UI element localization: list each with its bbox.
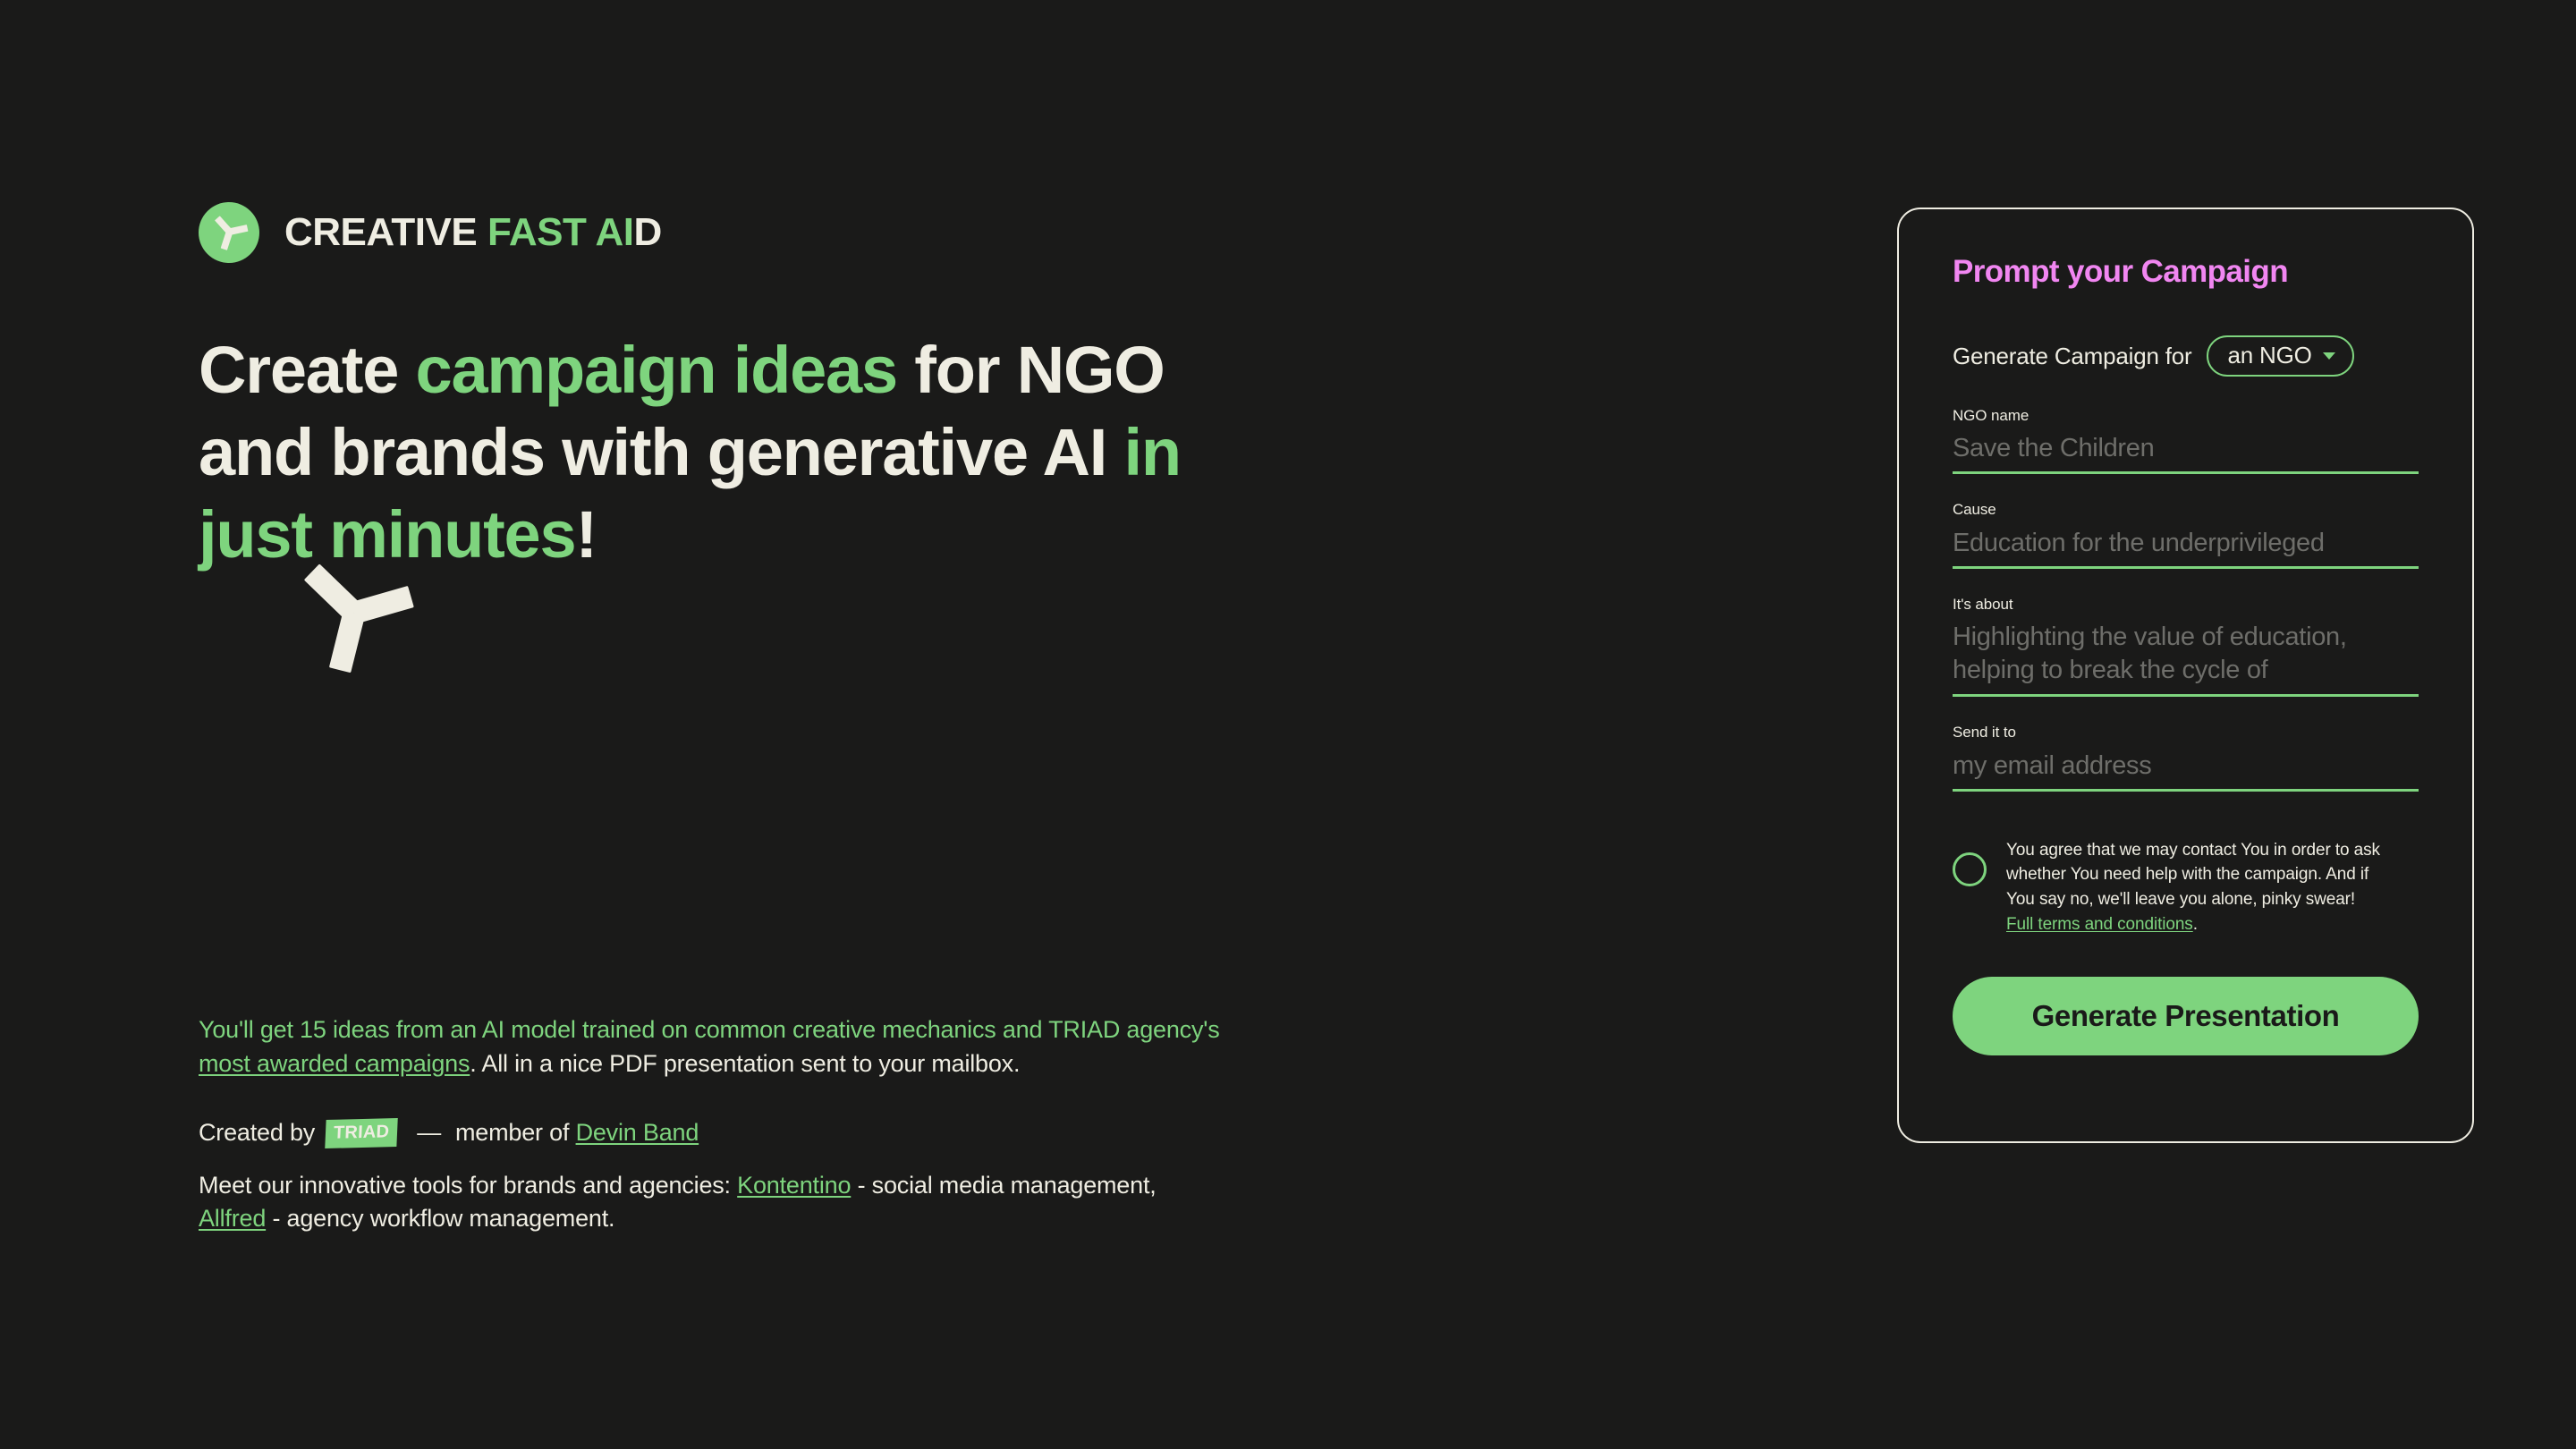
tools-intro: Meet our innovative tools for brands and… (199, 1172, 737, 1199)
triad-badge: TRIAD (325, 1118, 398, 1148)
about-input[interactable]: Highlighting the value of education, hel… (1953, 621, 2419, 689)
consent-checkbox[interactable] (1953, 852, 1987, 886)
lede-paragraph: You'll get 15 ideas from an AI model tra… (199, 1013, 1250, 1081)
brand-title: CREATIVE FAST AID (284, 213, 662, 252)
brand-header: CREATIVE FAST AID (199, 195, 1469, 270)
consent-text: You agree that we may contact You in ord… (2006, 838, 2382, 937)
credits-dash: — (417, 1119, 441, 1147)
tri-spoke-logo-icon (199, 202, 259, 263)
full-terms-and-conditions-link[interactable]: Full terms and conditions (2006, 915, 2193, 934)
consent-row: You agree that we may contact You in ord… (1953, 838, 2419, 937)
lede-cream-text: . All in a nice PDF presentation sent to… (470, 1050, 1020, 1077)
brand-title-part-2: FAST AI (487, 210, 634, 254)
headline-seg-1: Create (199, 333, 416, 407)
brand-title-part-3: D (633, 210, 661, 254)
headline-seg-2: campaign ideas (416, 333, 897, 407)
audience-select-value: an NGO (2228, 343, 2312, 367)
tri-spoke-mark-icon (277, 546, 429, 684)
form-field-ngo-name: NGO name Save the Children (1953, 407, 2419, 474)
prompt-campaign-panel: Prompt your Campaign Generate Campaign f… (1897, 208, 2474, 1143)
most-awarded-campaigns-link[interactable]: most awarded campaigns (199, 1050, 470, 1077)
field-label: Cause (1953, 501, 2419, 519)
created-by-label: Created by (199, 1119, 315, 1147)
generate-presentation-button[interactable]: Generate Presentation (1953, 977, 2419, 1055)
generate-for-label: Generate Campaign for (1953, 343, 2192, 370)
headline-seg-5: ! (575, 497, 596, 572)
tools-mid: - social media management, (851, 1172, 1156, 1199)
field-label: It's about (1953, 596, 2419, 614)
brand-title-part-1: CREATIVE (284, 210, 487, 254)
email-input[interactable]: my email address (1953, 750, 2419, 784)
hero-column: CREATIVE FAST AID Create campaign ideas … (199, 195, 1469, 575)
tools-paragraph: Meet our innovative tools for brands and… (199, 1169, 1200, 1236)
devin-band-link[interactable]: Devin Band (576, 1119, 699, 1147)
ngo-name-input[interactable]: Save the Children (1953, 432, 2419, 466)
panel-title: Prompt your Campaign (1953, 256, 2419, 287)
audience-select[interactable]: an NGO (2207, 335, 2354, 377)
hero-headline: Create campaign ideas for NGO and brands… (199, 329, 1254, 575)
field-label: NGO name (1953, 407, 2419, 425)
created-by-row: Created by TRIAD — member of Devin Band (199, 1119, 1317, 1148)
form-field-about: It's about Highlighting the value of edu… (1953, 596, 2419, 697)
consent-body: You agree that we may contact You in ord… (2006, 841, 2380, 909)
kontentino-link[interactable]: Kontentino (737, 1172, 851, 1199)
consent-tail: . (2193, 915, 2198, 934)
member-of-label: member of (455, 1119, 569, 1147)
form-field-email: Send it to my email address (1953, 724, 2419, 791)
lede-green-text: You'll get 15 ideas from an AI model tra… (199, 1016, 1220, 1043)
generate-for-row: Generate Campaign for an NGO (1953, 335, 2419, 377)
form-field-cause: Cause Education for the underprivileged (1953, 501, 2419, 568)
field-label: Send it to (1953, 724, 2419, 741)
cause-input[interactable]: Education for the underprivileged (1953, 527, 2419, 561)
footer-text-block: You'll get 15 ideas from an AI model tra… (199, 1013, 1317, 1235)
allfred-link[interactable]: Allfred (199, 1205, 266, 1232)
chevron-down-icon (2323, 352, 2335, 360)
tools-tail: - agency workflow management. (266, 1205, 614, 1232)
